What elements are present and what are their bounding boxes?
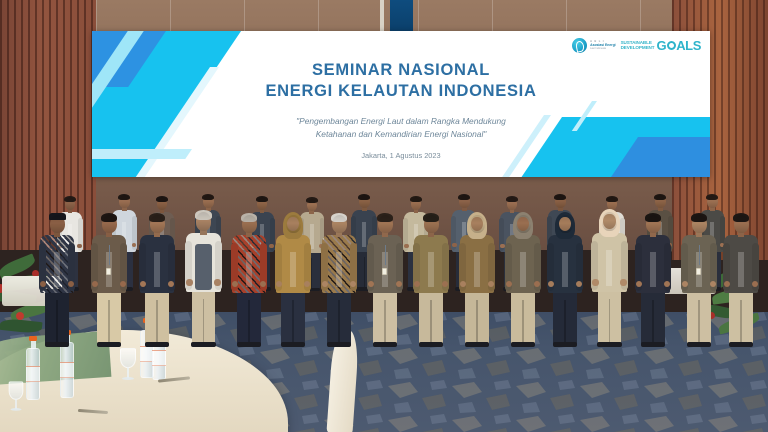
attendee-shoes	[191, 342, 216, 347]
attendee-hand	[620, 279, 627, 285]
attendee-shoes	[687, 342, 711, 347]
attendee-vest	[195, 244, 212, 290]
attendee-hand	[592, 279, 599, 285]
attendee-shoes	[373, 342, 397, 347]
attendee-hand	[214, 279, 221, 285]
leg-gap	[311, 258, 312, 289]
leg-gap	[564, 300, 566, 345]
attendee-hand	[120, 281, 126, 287]
attendee	[636, 213, 670, 345]
leg-gap	[338, 300, 340, 345]
attendee-hand	[269, 244, 274, 248]
face-shading	[196, 212, 211, 230]
leg-gap	[430, 300, 432, 345]
attendee	[232, 213, 266, 345]
attendee	[368, 213, 402, 345]
attendee-shirt-placket	[290, 252, 296, 287]
attendee-shoes	[465, 342, 489, 347]
attendee	[414, 213, 448, 345]
face-shading	[286, 215, 301, 233]
face-shading	[646, 215, 661, 233]
lanyard	[699, 245, 700, 265]
sdg-goals-g: G	[656, 38, 666, 53]
face-shading	[602, 212, 617, 230]
attendee-hand	[576, 281, 582, 287]
leg-gap	[609, 299, 611, 345]
attendee-hand	[710, 281, 716, 287]
banner-logo-row: A E L I Asosiasi Energi Laut Indonesia S…	[572, 38, 701, 53]
leg-gap	[698, 300, 700, 345]
attendee	[724, 213, 758, 345]
attendee-shirt-placket	[738, 252, 744, 287]
face-shading	[516, 215, 531, 233]
banner-title-line1: SEMINAR NASIONAL	[92, 60, 710, 81]
attendee	[506, 213, 540, 345]
wine-glass	[120, 348, 136, 382]
attendee-hand	[168, 281, 174, 287]
leg-gap	[108, 300, 110, 345]
aeli-wave-icon	[572, 38, 587, 53]
leg-gap	[476, 300, 478, 345]
leg-gap	[292, 300, 294, 345]
leg-gap	[56, 300, 58, 345]
attendee-hand	[77, 244, 82, 248]
attendee	[548, 213, 582, 345]
aeli-logo: A E L I Asosiasi Energi Laut Indonesia	[572, 38, 615, 53]
face-shading	[257, 197, 268, 210]
face-shading	[459, 195, 470, 208]
attendee-hand	[664, 281, 670, 287]
leg-gap	[248, 300, 250, 345]
attendee-hand	[304, 281, 310, 287]
attendee-hand	[396, 281, 402, 287]
face-shading	[470, 215, 485, 233]
sdg-goals-tail: ALS	[676, 38, 701, 53]
attendee-shoes	[419, 342, 443, 347]
seminar-backdrop-banner: A E L I Asosiasi Energi Laut Indonesia S…	[92, 31, 710, 177]
attendee-shoes	[45, 342, 69, 347]
attendee-shoes	[641, 342, 665, 347]
attendee-hand	[488, 281, 494, 287]
banner-subtitle-line1: "Pengembangan Energi Laut dalam Rangka M…	[92, 115, 710, 128]
face-shading	[734, 215, 749, 233]
attendee	[40, 213, 74, 345]
attendee	[92, 213, 126, 345]
face-shading	[411, 197, 422, 210]
attendee-shirt-placket	[562, 252, 568, 287]
attendee	[460, 213, 494, 345]
face-shading	[692, 215, 707, 233]
face-shading	[242, 215, 257, 233]
attendee-shoes	[97, 342, 121, 347]
attendee	[186, 210, 221, 345]
attendee-shirt-placket	[246, 252, 252, 287]
attendee	[592, 210, 627, 345]
lanyard	[109, 245, 110, 265]
attendee	[682, 213, 716, 345]
face-shading	[707, 195, 718, 208]
attendee-hand	[442, 281, 448, 287]
face-shading	[607, 197, 618, 210]
attendee-hand	[68, 281, 74, 287]
face-shading	[558, 215, 573, 233]
attendee-shoes	[597, 342, 622, 347]
attendee-shirt-placket	[154, 252, 160, 287]
banner-title-line2: ENERGI KELAUTAN INDONESIA	[92, 81, 710, 102]
face-shading	[424, 215, 439, 233]
face-shading	[203, 195, 214, 208]
face-shading	[655, 195, 666, 208]
attendee	[322, 213, 356, 345]
attendee-hand	[452, 243, 457, 247]
leg-gap	[522, 300, 524, 345]
attendee-shirt-placket	[606, 250, 612, 285]
attendee-shoes	[553, 342, 577, 347]
banner-title: SEMINAR NASIONAL ENERGI KELAUTAN INDONES…	[92, 60, 710, 102]
attendee-shirt-placket	[336, 252, 342, 287]
leg-gap	[156, 300, 158, 345]
name-badge	[106, 268, 111, 275]
face-shading	[378, 215, 393, 233]
attendee	[140, 213, 174, 345]
face-shading	[555, 195, 566, 208]
banner-subtitle: "Pengembangan Energi Laut dalam Rangka M…	[92, 115, 710, 141]
attendee-shoes	[281, 342, 305, 347]
wine-glass	[9, 381, 24, 412]
face-shading	[157, 197, 168, 210]
face-shading	[359, 195, 370, 208]
face-shading	[332, 215, 347, 233]
attendee-shirt-placket	[362, 222, 366, 247]
attendee-hand	[260, 281, 266, 287]
group-of-attendees	[0, 150, 768, 345]
leg-gap	[384, 300, 386, 345]
attendee-shirt-placket	[474, 252, 480, 287]
face-shading	[119, 195, 130, 208]
leg-gap	[740, 300, 742, 345]
name-badge	[382, 268, 387, 275]
attendee-shirt-placket	[54, 252, 60, 287]
leg-gap	[364, 257, 365, 289]
face-shading	[50, 215, 65, 233]
lanyard	[385, 245, 386, 265]
attendee-shirt-placket	[650, 252, 656, 287]
name-badge	[696, 268, 701, 275]
event-photo-scene: A E L I Asosiasi Energi Laut Indonesia S…	[0, 0, 768, 432]
attendee-shoes	[327, 342, 351, 347]
face-shading	[307, 199, 317, 212]
face-shading	[65, 197, 76, 210]
banner-subtitle-line2: Ketahanan dan Kemandirian Energi Nasiona…	[92, 128, 710, 141]
attendee-shoes	[145, 342, 169, 347]
aeli-logo-line3: Laut Indonesia	[590, 48, 615, 50]
attendee-shirt-placket	[520, 252, 526, 287]
sdg-ring-icon	[667, 41, 676, 50]
attendee-shoes	[511, 342, 535, 347]
leg-gap	[203, 299, 205, 345]
attendee-hand	[752, 281, 758, 287]
attendee-hand	[500, 244, 505, 248]
banner-date: Jakarta, 1 Agustus 2023	[92, 151, 710, 160]
face-shading	[150, 215, 165, 233]
face-shading	[102, 215, 117, 233]
leg-gap	[652, 300, 654, 345]
sdg-goals-wordmark: G ALS	[656, 38, 701, 53]
attendee-shoes	[729, 342, 753, 347]
sdg-logo: SUSTAINABLE DEVELOPMENT G ALS	[621, 38, 701, 53]
attendee-hand	[404, 244, 409, 248]
attendee	[276, 213, 310, 345]
face-shading	[507, 197, 518, 210]
attendee-hand	[186, 279, 193, 285]
attendee-hand	[350, 281, 356, 287]
attendee-shoes	[237, 342, 261, 347]
attendee-hand	[534, 281, 540, 287]
sdg-line-development: DEVELOPMENT	[621, 46, 655, 51]
attendee-shirt-placket	[428, 252, 434, 287]
